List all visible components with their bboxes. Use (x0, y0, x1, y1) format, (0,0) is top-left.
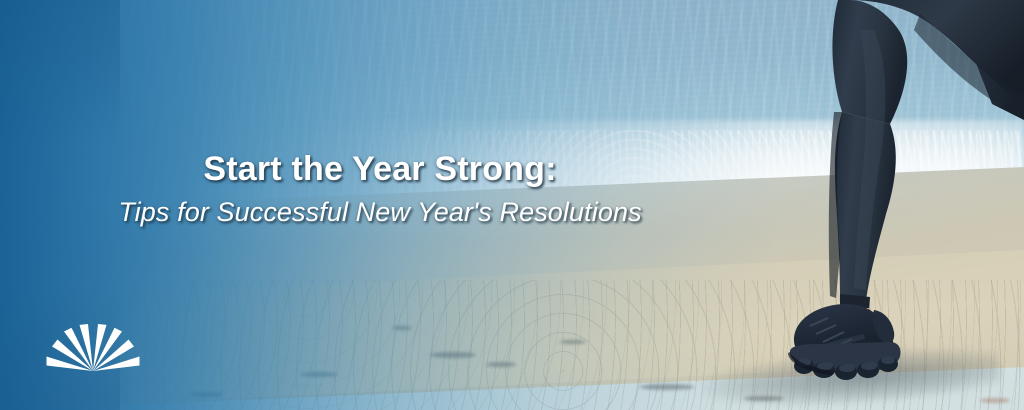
sunburst-fan-logo[interactable] (45, 324, 141, 372)
banner-headline: Start the Year Strong: (0, 150, 760, 188)
sunburst-fan-icon (45, 324, 141, 372)
banner-text-block: Start the Year Strong: Tips for Successf… (0, 150, 760, 228)
banner-subheadline: Tips for Successful New Year's Resolutio… (0, 197, 760, 228)
promotional-banner: Start the Year Strong: Tips for Successf… (0, 0, 1024, 410)
